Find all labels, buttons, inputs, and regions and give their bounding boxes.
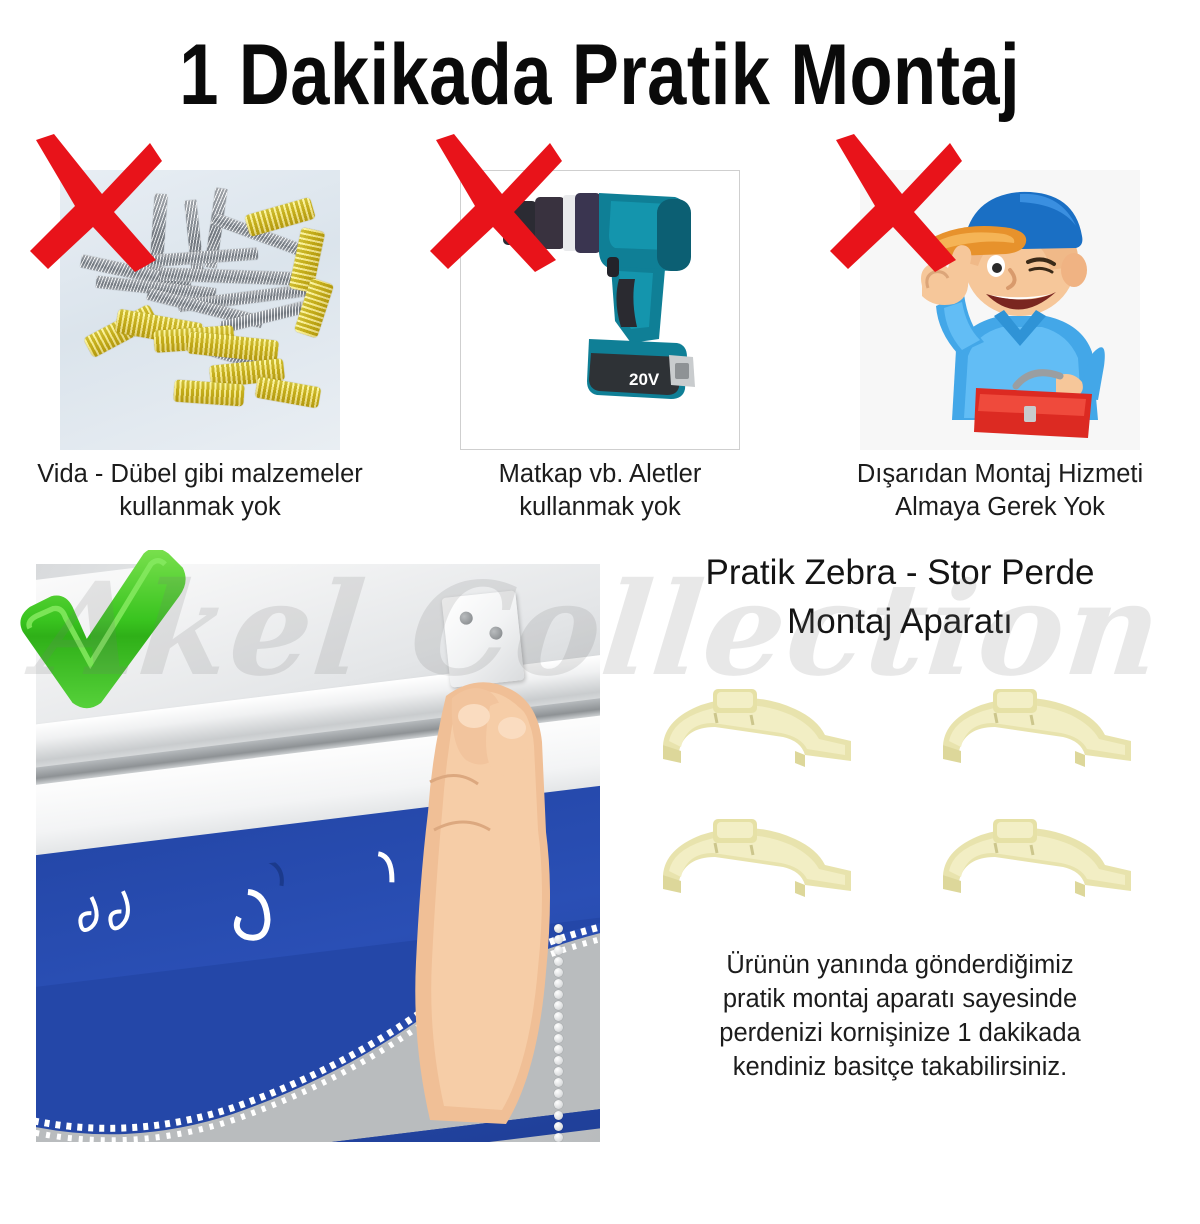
- red-x-icon: [818, 128, 968, 278]
- red-x-icon: [18, 128, 168, 278]
- installation-panel: [0, 542, 600, 1172]
- product-description-line4: kendiniz basitçe takabilirsiniz.: [624, 1050, 1176, 1084]
- caption-handyman-line2: Almaya Gerek Yok: [814, 491, 1186, 524]
- product-description-line1: Ürünün yanında gönderdiğimiz: [624, 948, 1176, 982]
- prohibited-item-drill: 20V: [400, 150, 800, 450]
- bead-chain: [554, 924, 563, 1142]
- caption-screws-line2: kullanmak yok: [14, 491, 386, 524]
- caption-handyman: Dışarıdan Montaj Hizmeti Almaya Gerek Yo…: [800, 450, 1200, 542]
- mounting-clip: [935, 809, 1145, 909]
- prohibited-items-row: 20V: [0, 150, 1200, 450]
- mounting-clip: [935, 679, 1145, 779]
- screws-photo-container: [60, 170, 340, 450]
- caption-drill-line2: kullanmak yok: [414, 491, 786, 524]
- caption-drill: Matkap vb. Aletler kullanmak yok: [400, 450, 800, 542]
- battery-voltage-label: 20V: [629, 370, 660, 389]
- red-x-icon: [418, 128, 568, 278]
- page-title: 1 Dakikada Pratik Montaj: [180, 26, 1021, 125]
- product-heading-line2: Montaj Aparatı: [620, 597, 1180, 646]
- product-description-line2: pratik montaj aparatı sayesinde: [624, 982, 1176, 1016]
- mounting-clips-grid: [620, 664, 1180, 924]
- mounting-clip: [655, 809, 865, 909]
- product-description: Ürünün yanında gönderdiğimiz pratik mont…: [600, 924, 1200, 1084]
- caption-drill-line1: Matkap vb. Aletler: [414, 458, 786, 491]
- drill-photo-container: 20V: [460, 170, 740, 450]
- prohibited-captions-row: Vida - Dübel gibi malzemeler kullanmak y…: [0, 450, 1200, 542]
- green-check-icon: [12, 550, 190, 710]
- caption-screws-line1: Vida - Dübel gibi malzemeler: [14, 458, 386, 491]
- product-heading-line1: Pratik Zebra - Stor Perde: [620, 548, 1180, 597]
- prohibited-item-handyman: [800, 150, 1200, 450]
- product-panel: Pratik Zebra - Stor Perde Montaj Aparatı: [600, 542, 1200, 1172]
- handyman-photo-container: [860, 170, 1140, 450]
- product-heading: Pratik Zebra - Stor Perde Montaj Aparatı: [600, 548, 1200, 646]
- hand-installing: [386, 642, 596, 1142]
- prohibited-item-screws: [0, 150, 400, 450]
- mounting-clip: [655, 679, 865, 779]
- caption-screws: Vida - Dübel gibi malzemeler kullanmak y…: [0, 450, 400, 542]
- caption-handyman-line1: Dışarıdan Montaj Hizmeti: [814, 458, 1186, 491]
- page-header: 1 Dakikada Pratik Montaj: [0, 0, 1200, 150]
- product-description-line3: perdenizi kornişinize 1 dakikada: [624, 1016, 1176, 1050]
- bottom-section: Pratik Zebra - Stor Perde Montaj Aparatı: [0, 542, 1200, 1172]
